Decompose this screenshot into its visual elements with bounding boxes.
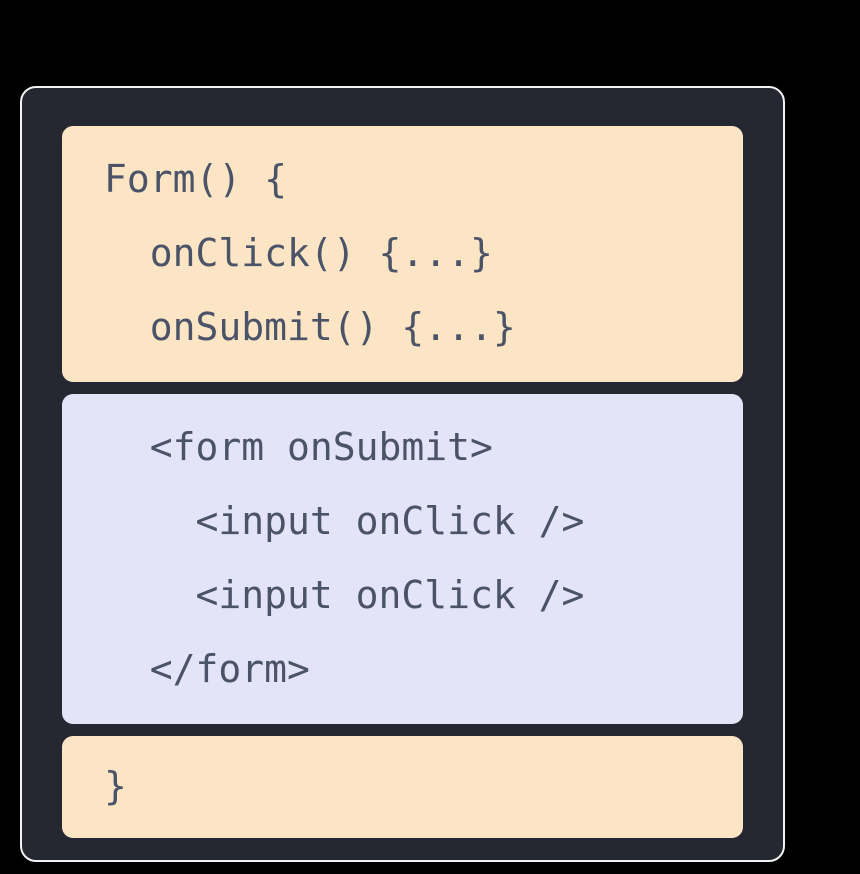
code-line: Form() { [62, 142, 743, 216]
code-panel-component-open: Form() { onClick() {...} onSubmit() {...… [62, 126, 743, 382]
code-line: <input onClick /> [62, 484, 743, 558]
code-panel-markup: <form onSubmit> <input onClick /> <input… [62, 394, 743, 724]
code-panel-component-close: } [62, 736, 743, 838]
code-line: onClick() {...} [62, 216, 743, 290]
code-card: Form() { onClick() {...} onSubmit() {...… [20, 86, 785, 862]
code-line: <input onClick /> [62, 558, 743, 632]
screenshot-stage: Form() { onClick() {...} onSubmit() {...… [0, 0, 860, 874]
code-line: <form onSubmit> [62, 410, 743, 484]
code-line: } [62, 752, 743, 820]
code-line: </form> [62, 632, 743, 706]
code-line: onSubmit() {...} [62, 290, 743, 364]
